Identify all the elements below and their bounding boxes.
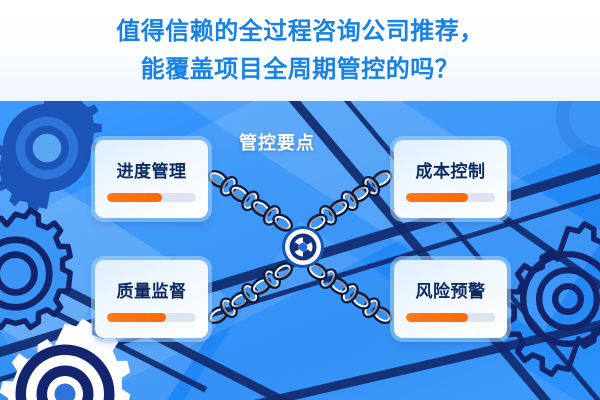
card-cost[interactable]: 成本控制 (394, 140, 507, 218)
card-risk[interactable]: 风险预警 (394, 260, 507, 338)
progress-fill (107, 313, 166, 322)
page-title-line-1: 值得信赖的全过程咨询公司推荐， (0, 13, 600, 51)
page-title-line-2: 能覆盖项目全周期管控的吗？ (0, 51, 600, 89)
progress-track (406, 193, 495, 202)
poster-header: 值得信赖的全过程咨询公司推荐， 能覆盖项目全周期管控的吗？ (0, 0, 600, 101)
poster-canvas: 值得信赖的全过程咨询公司推荐， 能覆盖项目全周期管控的吗？ (0, 0, 600, 400)
progress-track (107, 313, 196, 322)
progress-fill (406, 313, 468, 322)
card-title: 进度管理 (95, 157, 208, 182)
progress-track (107, 193, 196, 202)
progress-fill (406, 193, 468, 202)
progress-track (406, 313, 495, 322)
card-title: 风险预警 (394, 277, 507, 302)
card-title: 质量监督 (95, 277, 208, 302)
card-quality[interactable]: 质量监督 (95, 260, 208, 338)
poster-stage: 管控要点 进度管理 成本控制 质量监督 风险预警 (0, 101, 600, 400)
card-schedule[interactable]: 进度管理 (95, 140, 208, 218)
card-title: 成本控制 (394, 157, 507, 182)
page-title: 值得信赖的全过程咨询公司推荐， 能覆盖项目全周期管控的吗？ (0, 13, 600, 89)
progress-fill (107, 193, 162, 202)
section-label: 管控要点 (239, 129, 315, 155)
hub-gear-icon (281, 225, 325, 269)
